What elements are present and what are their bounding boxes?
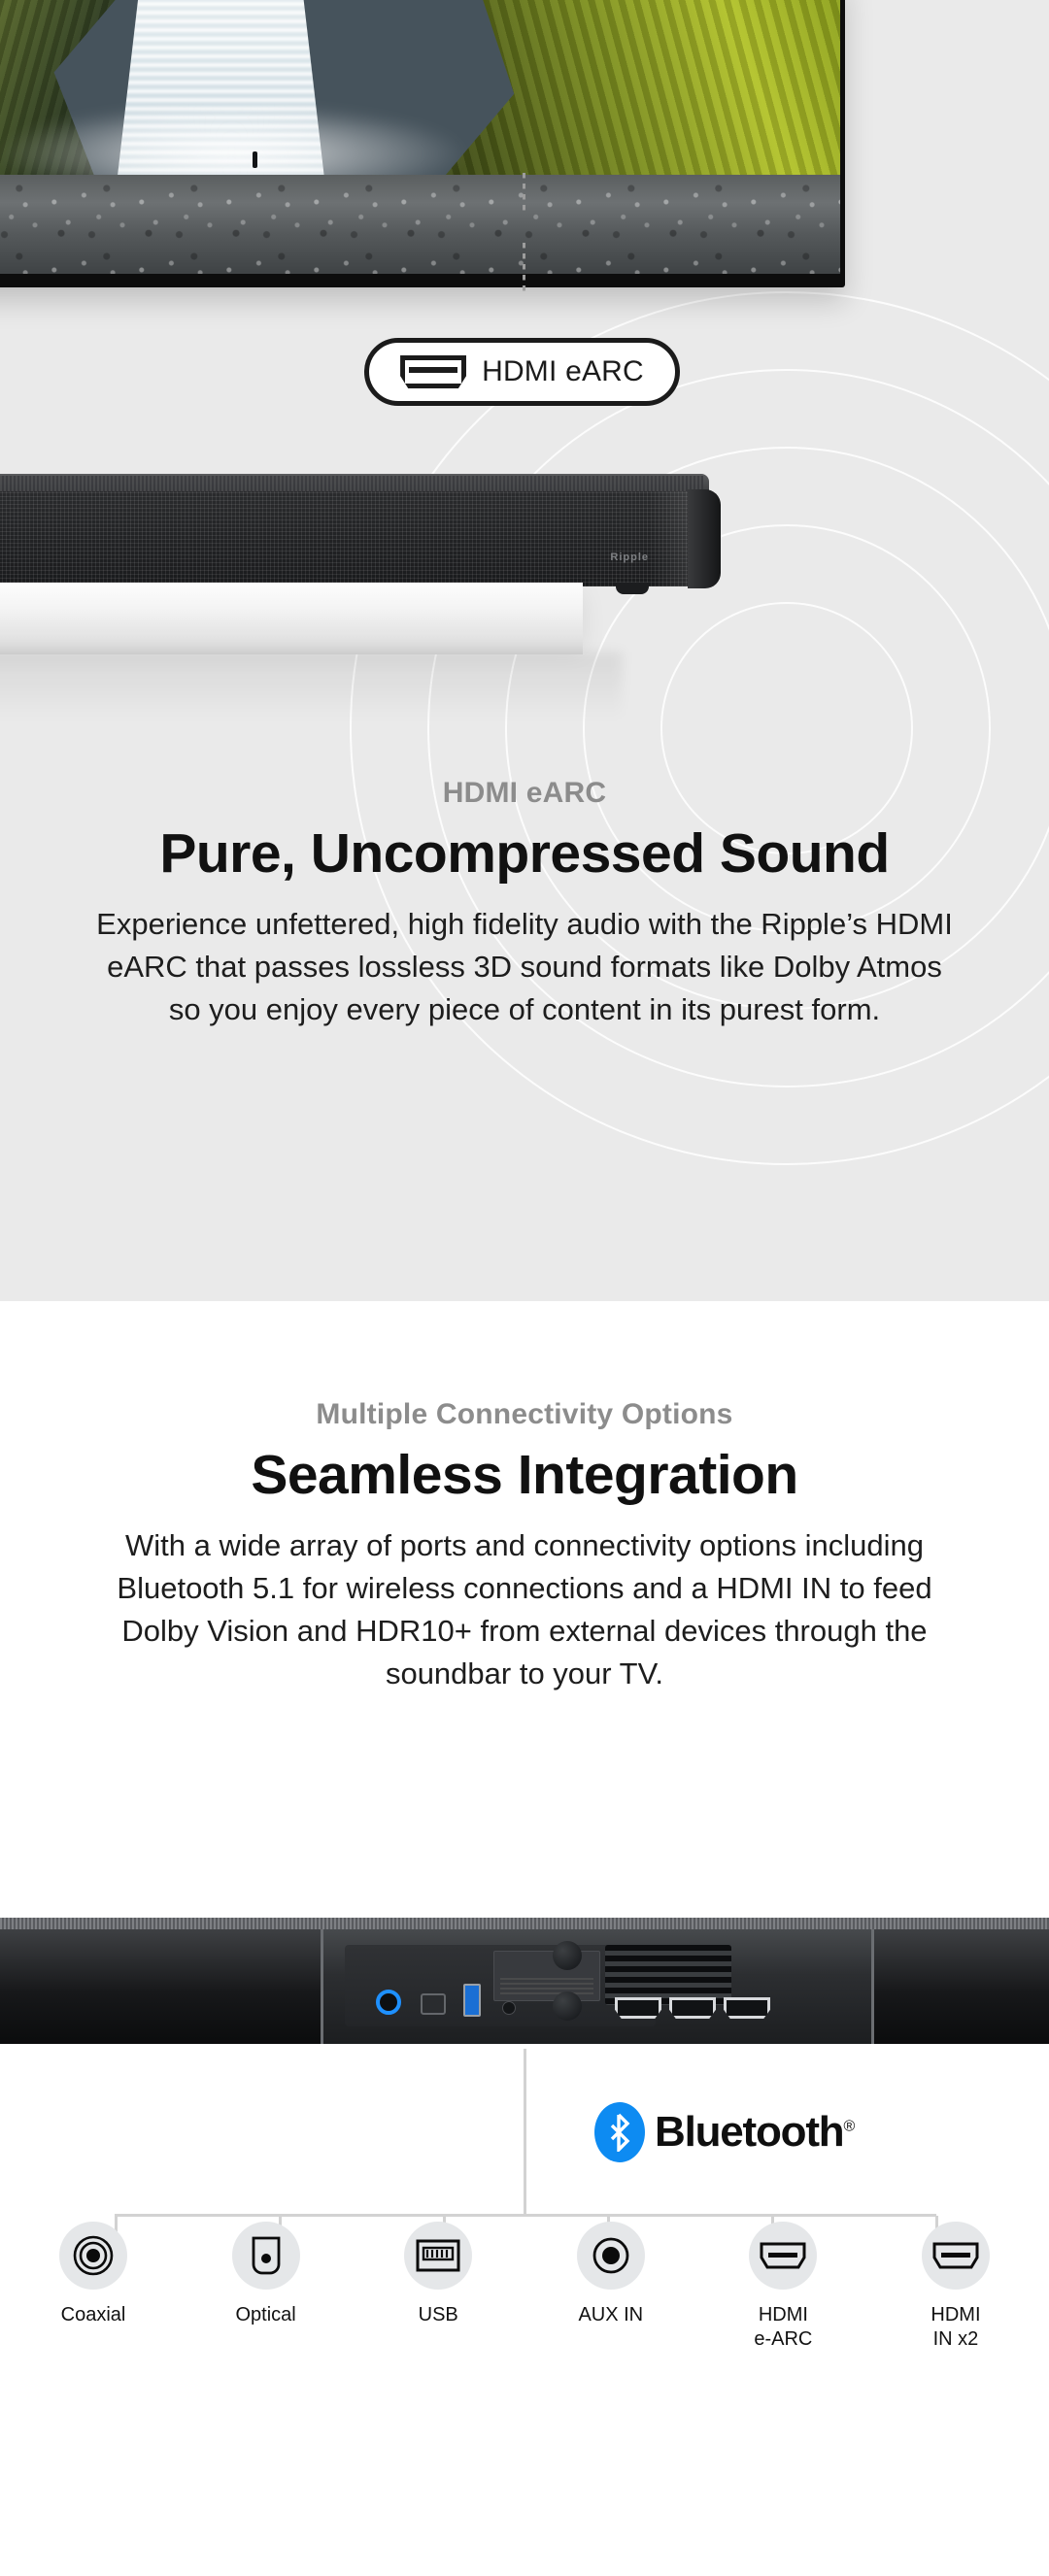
port-item-hdmi-in[interactable]: HDMI IN x2 xyxy=(884,2222,1028,2352)
port-item-usb[interactable]: USB xyxy=(366,2222,510,2352)
rear-vents xyxy=(605,1945,731,2005)
bluetooth-wordmark-text: Bluetooth xyxy=(655,2108,843,2156)
soundbar-rear-panel xyxy=(0,1918,1049,2049)
port-label: Optical xyxy=(235,2303,295,2327)
rear-hdmi-port xyxy=(669,1997,716,2019)
earc-eyebrow: HDMI eARC xyxy=(0,777,1049,810)
registered-trademark-icon: ® xyxy=(843,2118,854,2134)
rear-aux-port xyxy=(502,2001,516,2015)
product-feature-page: HDMI eARC Ripple HDMI eARC Pure, Uncompr… xyxy=(0,0,1049,2576)
soundbar-brand-mark: Ripple xyxy=(610,552,649,563)
port-label: HDMI IN x2 xyxy=(931,2303,980,2352)
connectivity-body: With a wide array of ports and connectiv… xyxy=(87,1524,962,1695)
rear-screw xyxy=(553,1991,582,2021)
port-list: Coaxial Optical xyxy=(0,2222,1049,2352)
waterfall-scene-image xyxy=(0,0,840,274)
rear-usb-port xyxy=(463,1984,481,2017)
rear-io-plate xyxy=(321,1929,874,2044)
tv-screen xyxy=(0,0,840,274)
earc-copy-block: HDMI eARC Pure, Uncompressed Sound Exper… xyxy=(0,777,1049,1031)
hdmi-earc-icon xyxy=(749,2222,817,2290)
port-label: USB xyxy=(419,2303,458,2327)
warning-label xyxy=(493,1951,600,2001)
rear-hdmi-port xyxy=(724,1997,770,2019)
shelf-edge xyxy=(0,633,583,654)
port-connector-tree xyxy=(0,2049,1049,2224)
bluetooth-icon xyxy=(594,2102,645,2162)
hero-section: HDMI eARC Ripple HDMI eARC Pure, Uncompr… xyxy=(0,0,1049,1301)
television xyxy=(0,0,845,287)
connector-dots-top xyxy=(523,173,525,214)
port-item-optical[interactable]: Optical xyxy=(194,2222,338,2352)
connectivity-copy-block: Multiple Connectivity Options Seamless I… xyxy=(0,1398,1049,1695)
bluetooth-wordmark: Bluetooth® xyxy=(655,2108,854,2157)
port-item-aux-in[interactable]: AUX IN xyxy=(539,2222,683,2352)
bluetooth-logo: Bluetooth® xyxy=(594,2102,854,2162)
port-item-coaxial[interactable]: Coaxial xyxy=(21,2222,165,2352)
earc-body: Experience unfettered, high fidelity aud… xyxy=(87,903,962,1031)
port-label: AUX IN xyxy=(578,2303,643,2327)
connectivity-eyebrow: Multiple Connectivity Options xyxy=(0,1398,1049,1431)
coaxial-icon xyxy=(59,2222,127,2290)
rear-screw xyxy=(553,1941,582,1970)
hdmi-in-icon xyxy=(922,2222,990,2290)
sound-wave-rings xyxy=(350,291,1049,1165)
connectivity-headline: Seamless Integration xyxy=(0,1443,1049,1507)
earc-headline: Pure, Uncompressed Sound xyxy=(0,821,1049,886)
shelf-shadow xyxy=(0,652,622,720)
optical-icon xyxy=(232,2222,300,2290)
port-label: HDMI e-ARC xyxy=(754,2303,812,2352)
rear-hdmi-port xyxy=(615,1997,661,2019)
hdmi-port-icon xyxy=(400,355,466,388)
rear-optical-port xyxy=(421,1993,446,2015)
hdmi-earc-badge: HDMI eARC xyxy=(364,338,680,406)
hdmi-earc-badge-label: HDMI eARC xyxy=(482,355,644,388)
usb-icon xyxy=(404,2222,472,2290)
shelf xyxy=(0,583,583,639)
rear-coaxial-port xyxy=(376,1990,401,2015)
connector-dots-bottom xyxy=(523,243,525,293)
soundbar-front: Ripple xyxy=(0,474,709,590)
aux-in-icon xyxy=(577,2222,645,2290)
port-item-hdmi-earc[interactable]: HDMI e-ARC xyxy=(711,2222,855,2352)
port-label: Coaxial xyxy=(61,2303,126,2327)
